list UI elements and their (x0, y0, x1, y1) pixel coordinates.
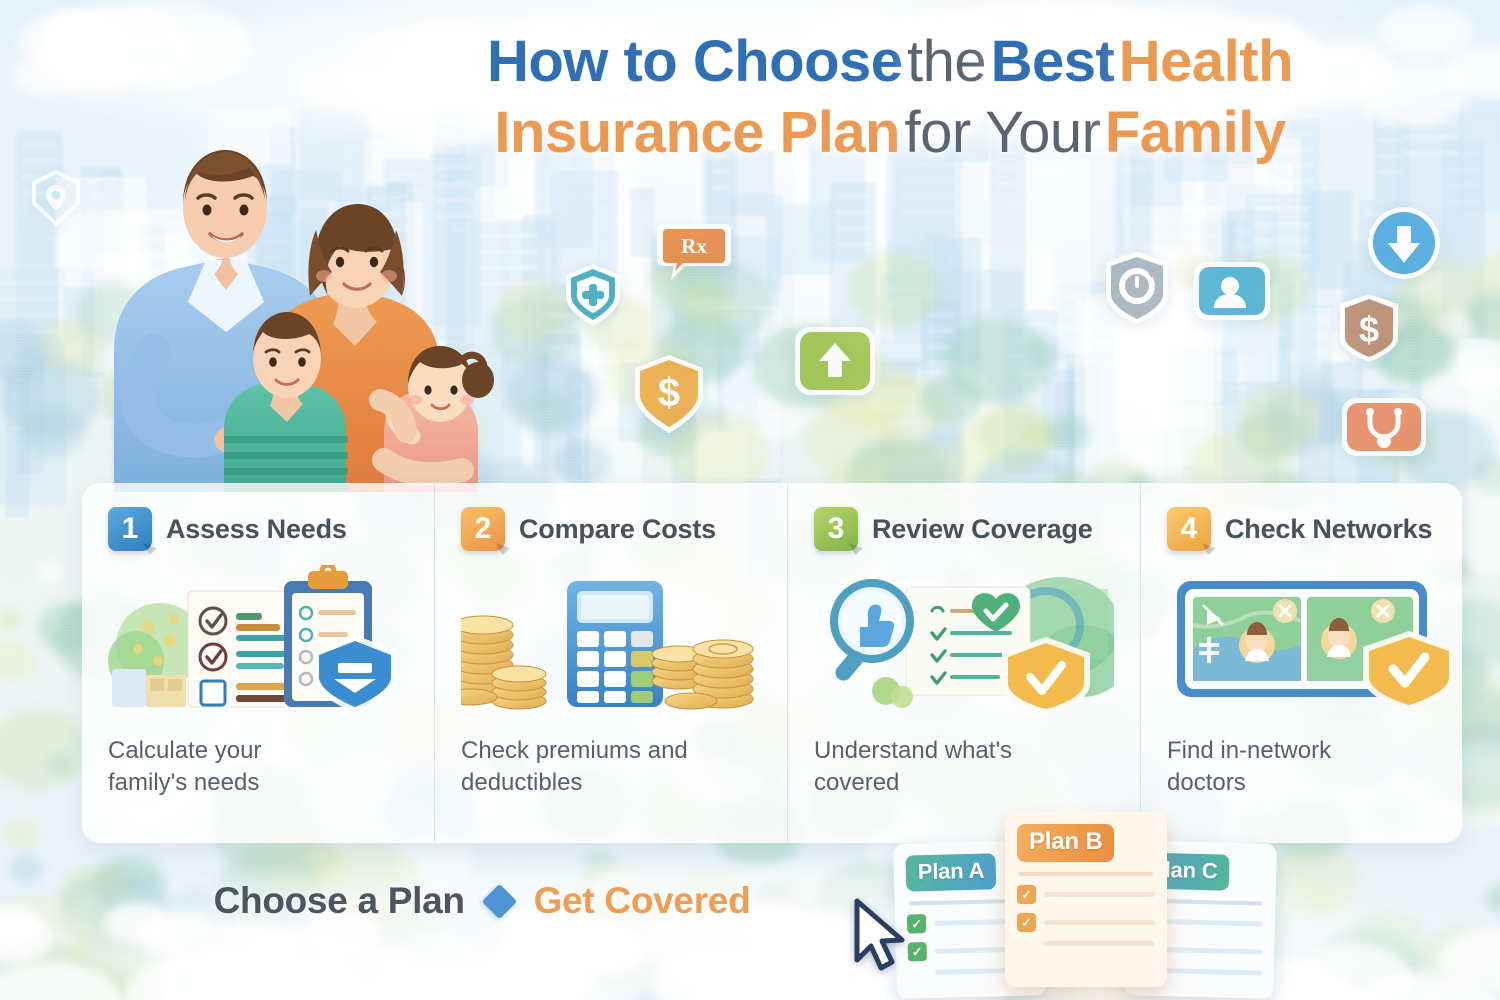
medical-cross-shield-icon (563, 262, 623, 333)
svg-text:$: $ (658, 371, 680, 415)
plan-comparison-cards: Plan A ✓ ✓ Plan C ✓ ✓ (895, 812, 1275, 1000)
call-to-action: Choose a Plan Get Covered (82, 880, 882, 922)
page-title: How to Choose the Best Health Insurance … (340, 32, 1440, 162)
step-card-4[interactable]: 4 Check Networks (1140, 483, 1462, 843)
plan-b-feature-line (1044, 920, 1155, 925)
step-card-1[interactable]: 1 Assess Needs (82, 483, 434, 843)
step-3-header: 3 Review Coverage (814, 505, 1114, 553)
svg-text:Rx: Rx (681, 234, 707, 258)
prescription-bubble-icon: Rx (655, 222, 733, 289)
plan-c-feature-line (1163, 968, 1262, 975)
step-4-number-badge: 4 (1167, 507, 1211, 551)
check-icon: ✓ (908, 942, 927, 961)
plan-b-feature-row (1017, 941, 1155, 946)
diamond-separator-icon (481, 883, 516, 918)
step-2-description: Check premiums and deductibles (461, 735, 691, 798)
step-1-header: 1 Assess Needs (108, 505, 408, 553)
title-word-the: the (907, 29, 986, 94)
location-pin-shield-icon (30, 170, 82, 231)
plan-b-label: Plan B (1017, 824, 1114, 862)
cta-choose-a-plan-label[interactable]: Choose a Plan (214, 880, 465, 922)
step-1-number-badge: 1 (108, 507, 152, 551)
download-arrow-icon (1366, 205, 1442, 286)
step-1-title: Assess Needs (166, 514, 347, 545)
title-word-insurance-plan: Insurance Plan (494, 100, 900, 165)
step-2-header: 2 Compare Costs (461, 505, 761, 553)
dollar-shield-icon: $ (631, 353, 707, 440)
step-3-number-badge: 3 (814, 507, 858, 551)
checklist-clipboard-shield-illustration (108, 565, 408, 717)
title-word-best: Best (991, 29, 1115, 94)
plan-b-divider (1019, 872, 1153, 876)
step-card-2[interactable]: 2 Compare Costs (434, 483, 787, 843)
cta-get-covered-label[interactable]: Get Covered (534, 880, 751, 922)
plan-b-feature-row: ✓ (1017, 885, 1155, 904)
steps-panel: 1 Assess Needs (82, 483, 1462, 843)
calculator-coins-illustration (461, 565, 761, 717)
doctor-network-screen-illustration (1167, 565, 1462, 717)
title-word-health: Health (1119, 29, 1293, 94)
step-3-title: Review Coverage (872, 514, 1093, 545)
magnifier-document-shield-illustration (814, 565, 1114, 717)
title-word-how-to-choose: How to Choose (487, 29, 903, 94)
infographic-canvas: Rx $ (0, 0, 1500, 1000)
droplet-icon: ✓ (1017, 913, 1036, 932)
step-4-header: 4 Check Networks (1167, 505, 1462, 553)
step-1-description: Calculate your family's needs (108, 735, 338, 798)
step-4-title: Check Networks (1225, 514, 1432, 545)
step-2-number-badge: 2 (461, 507, 505, 551)
page-title-line-2: Insurance Plan for Your Family (340, 103, 1440, 162)
plan-a-label: Plan A (905, 853, 996, 891)
svg-text:$: $ (1359, 309, 1379, 350)
title-word-for-your: for Your (904, 100, 1100, 165)
plan-c-feature-line (1163, 947, 1262, 954)
plan-c-feature-line (1164, 919, 1263, 926)
check-icon: ✓ (1017, 885, 1036, 904)
step-4-description: Find in-network doctors (1167, 735, 1397, 798)
step-card-3[interactable]: 3 Review Coverage (787, 483, 1140, 843)
page-title-line-1: How to Choose the Best Health (340, 32, 1440, 91)
step-2-title: Compare Costs (519, 514, 716, 545)
member-card-icon (1192, 260, 1272, 327)
plan-card-b[interactable]: Plan B ✓ ✓ (1005, 812, 1167, 987)
dollar-badge-icon: $ (1336, 292, 1402, 369)
plan-b-feature-line (1044, 941, 1155, 946)
plan-b-feature-row: ✓ (1017, 913, 1155, 932)
clock-shield-icon (1100, 250, 1174, 331)
upload-arrow-icon (793, 325, 877, 402)
mouse-cursor-pointer (852, 898, 910, 979)
step-3-description: Understand what's covered (814, 735, 1044, 798)
title-word-family: Family (1105, 100, 1286, 165)
plan-b-feature-line (1044, 892, 1155, 897)
stethoscope-icon (1340, 396, 1428, 463)
